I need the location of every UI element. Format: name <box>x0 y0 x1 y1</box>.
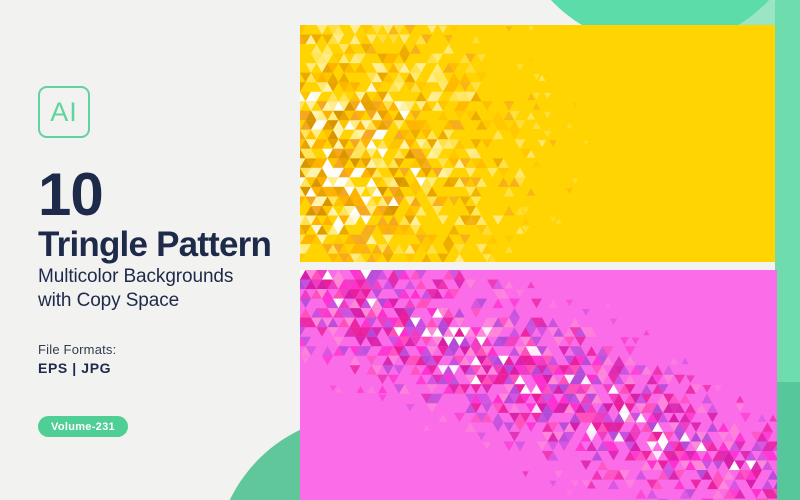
page-subtitle: Multicolor Backgrounds with Copy Space <box>38 265 233 313</box>
ai-format-badge: AI <box>38 86 90 138</box>
subtitle-line-2: with Copy Space <box>38 289 233 313</box>
preview-yellow-triangle-pattern <box>300 25 775 262</box>
volume-badge: Volume-231 <box>38 416 128 437</box>
poster-canvas: AI 10 Tringle Pattern Multicolor Backgro… <box>0 0 800 500</box>
volume-badge-label: Volume-231 <box>51 421 115 433</box>
subtitle-line-1: Multicolor Backgrounds <box>38 265 233 289</box>
info-column: AI 10 Tringle Pattern Multicolor Backgro… <box>38 0 308 500</box>
page-title: Tringle Pattern <box>38 227 271 262</box>
item-count: 10 <box>38 168 103 222</box>
preview-magenta-triangle-pattern <box>300 270 777 500</box>
file-formats-label: File Formats: <box>38 342 116 357</box>
file-formats-value: EPS | JPG <box>38 360 111 376</box>
ai-badge-label: AI <box>50 99 78 126</box>
